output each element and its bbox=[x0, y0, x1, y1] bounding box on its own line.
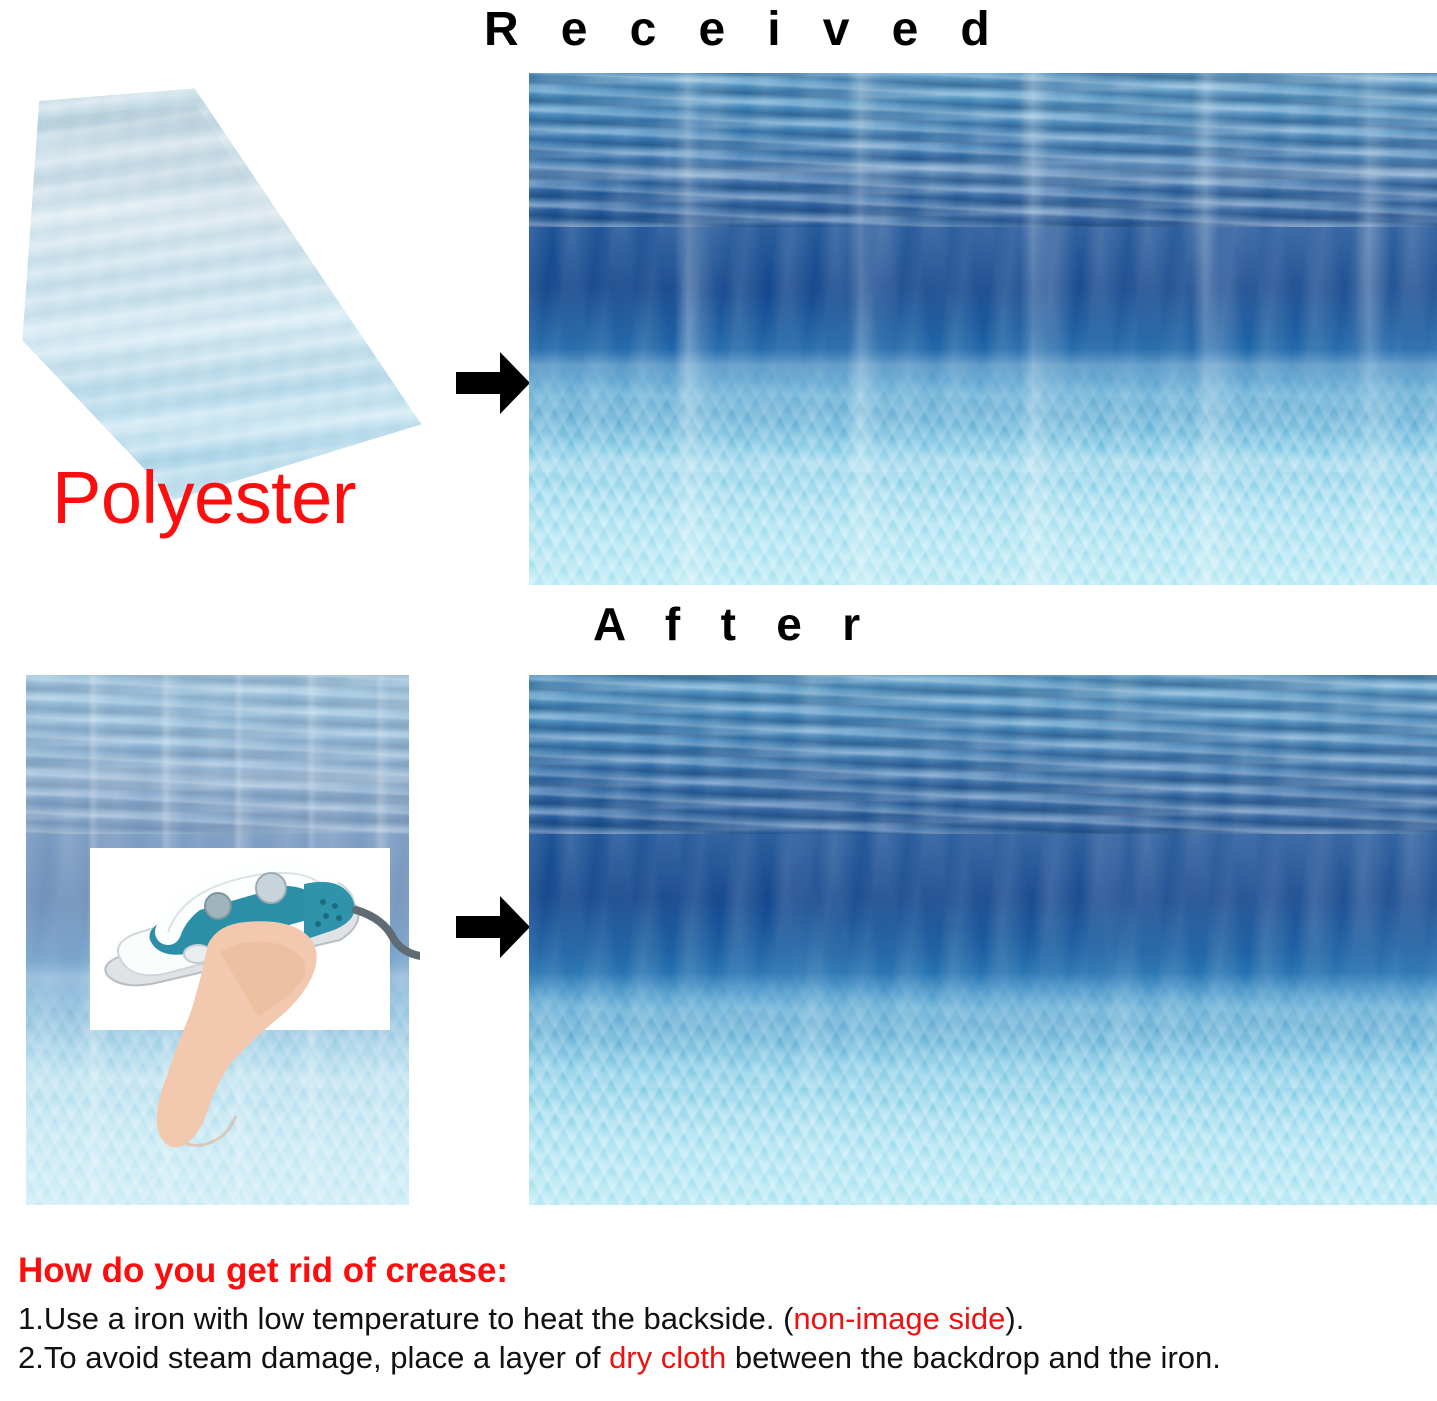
instruction-2-highlight: dry cloth bbox=[609, 1340, 726, 1375]
arrow-right-icon bbox=[456, 896, 530, 963]
sandy-floor-caustics bbox=[529, 972, 1437, 1205]
instruction-1-text-b: ). bbox=[1005, 1301, 1024, 1336]
fabric-shadow bbox=[22, 97, 425, 500]
instructions-title: How do you get rid of crease: bbox=[18, 1252, 1428, 1291]
instruction-line-2: 2.To avoid steam damage, place a layer o… bbox=[18, 1338, 1428, 1378]
after-heading: A f t e r bbox=[593, 597, 874, 651]
received-heading: R e c e i v e d bbox=[484, 2, 1004, 57]
instruction-1-highlight: non-image side bbox=[793, 1301, 1005, 1336]
polyester-label: Polyester bbox=[52, 455, 356, 540]
steam-iron-photo-inset bbox=[90, 848, 390, 1030]
instructions-block: How do you get rid of crease: 1.Use a ir… bbox=[18, 1252, 1428, 1378]
water-surface-ripples bbox=[529, 73, 1437, 227]
polyester-fabric-swatch bbox=[14, 80, 434, 500]
instruction-2-text-a: 2.To avoid steam damage, place a layer o… bbox=[18, 1340, 609, 1375]
arrow-right-icon bbox=[456, 352, 530, 419]
sandy-floor-caustics bbox=[529, 360, 1437, 585]
instruction-line-1: 1.Use a iron with low temperature to hea… bbox=[18, 1299, 1428, 1339]
received-backdrop-image bbox=[529, 73, 1437, 585]
water-surface-ripples bbox=[529, 675, 1437, 834]
instruction-2-text-b: between the backdrop and the iron. bbox=[726, 1340, 1221, 1375]
instruction-1-text-a: 1.Use a iron with low temperature to hea… bbox=[18, 1301, 793, 1336]
after-backdrop-image bbox=[529, 675, 1437, 1205]
